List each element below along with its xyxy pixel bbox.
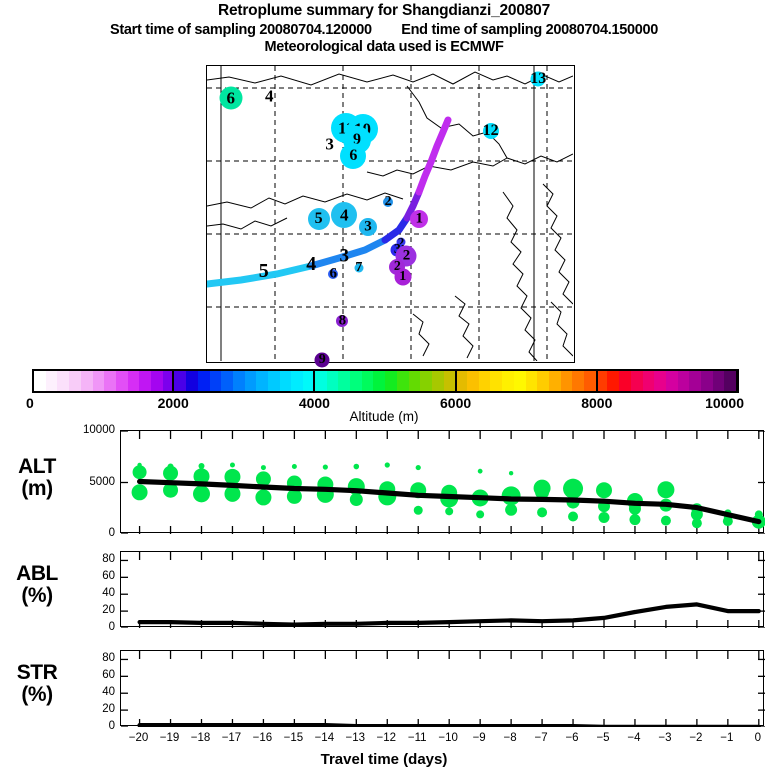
alt-panel-label: ALT (m) <box>6 456 68 500</box>
x-tick-label: −19 <box>160 732 180 744</box>
colorbar-swatch <box>81 371 93 391</box>
map-marker-label: 3 <box>325 136 334 153</box>
colorbar-tick <box>313 369 315 393</box>
colorbar-swatch <box>362 371 374 391</box>
colorbar-swatch <box>268 371 280 391</box>
x-tick-label: 0 <box>755 732 761 744</box>
alt-y-tick-label: 0 <box>60 527 115 539</box>
abl-timeseries-panel[interactable] <box>120 551 764 627</box>
colorbar-swatch <box>280 371 292 391</box>
x-tick-label: −13 <box>346 732 366 744</box>
colorbar-swatch <box>373 371 385 391</box>
map-graticule-and-coastlines <box>207 66 573 361</box>
colorbar-swatch <box>455 371 467 391</box>
start-time-label: Start time of sampling 20080704.120000 <box>110 22 372 38</box>
map-marker-label: 3 <box>364 219 372 234</box>
x-tick-label: −9 <box>473 732 486 744</box>
map-marker-label: 3 <box>340 247 350 266</box>
abl-panel-label: ABL (%) <box>6 563 68 607</box>
colorbar-swatch <box>69 371 81 391</box>
colorbar-swatch <box>432 371 444 391</box>
colorbar-swatch <box>631 371 643 391</box>
map-marker-label: 4 <box>265 87 274 104</box>
colorbar-swatch <box>245 371 257 391</box>
colorbar-swatch <box>549 371 561 391</box>
map-marker-label: 4 <box>340 206 349 223</box>
colorbar-swatch <box>713 371 725 391</box>
colorbar-swatch <box>420 371 432 391</box>
colorbar-swatch <box>561 371 573 391</box>
abl-y-tick-label: 0 <box>60 621 115 633</box>
alt-y-tick-label: 10000 <box>60 424 115 436</box>
colorbar-swatch <box>619 371 631 391</box>
str-timeseries-panel[interactable] <box>120 650 764 726</box>
map-marker-label: 6 <box>349 148 357 164</box>
colorbar-swatch <box>572 371 584 391</box>
str-plot-area <box>121 651 765 727</box>
colorbar-swatch <box>537 371 549 391</box>
colorbar-swatch <box>724 371 736 391</box>
map-marker-label: 6 <box>227 90 236 107</box>
colorbar-swatch <box>385 371 397 391</box>
x-tick-label: −16 <box>253 732 273 744</box>
abl-y-tick-label: 20 <box>60 604 115 616</box>
x-tick-label: −20 <box>129 732 149 744</box>
colorbar-swatch <box>490 371 502 391</box>
colorbar-swatch <box>315 371 327 391</box>
page-title: Retroplume summary for Shangdianzi_20080… <box>0 2 768 20</box>
x-tick-label: −18 <box>191 732 211 744</box>
colorbar-swatch <box>502 371 514 391</box>
colorbar-swatch <box>128 371 140 391</box>
colorbar-swatch <box>174 371 186 391</box>
x-tick-label: −5 <box>596 732 609 744</box>
map-marker-label: 6 <box>330 266 338 281</box>
alt-plot-area <box>121 431 765 534</box>
colorbar-swatch <box>701 371 713 391</box>
map-marker-label: 2 <box>385 195 392 209</box>
colorbar-swatch <box>46 371 58 391</box>
sampling-time-line: Start time of sampling 20080704.120000 E… <box>0 22 768 38</box>
map-marker-label: 4 <box>306 254 316 274</box>
colorbar-swatch <box>678 371 690 391</box>
colorbar-tick <box>596 369 598 393</box>
x-tick-label: −10 <box>438 732 458 744</box>
map-marker-label: 7 <box>355 261 362 275</box>
colorbar-swatch <box>643 371 655 391</box>
x-tick-label: −7 <box>535 732 548 744</box>
str-y-tick-label: 20 <box>60 703 115 715</box>
colorbar-swatch <box>514 371 526 391</box>
colorbar-swatch <box>654 371 666 391</box>
str-y-tick-label: 0 <box>60 720 115 732</box>
colorbar-swatch <box>689 371 701 391</box>
map-marker-label: 8 <box>339 314 347 329</box>
colorbar-swatch <box>139 371 151 391</box>
str-y-tick-label: 60 <box>60 669 115 681</box>
x-axis-title: Travel time (days) <box>0 751 768 768</box>
colorbar-swatch <box>198 371 210 391</box>
header-block: Retroplume summary for Shangdianzi_20080… <box>0 2 768 55</box>
x-tick-label: −17 <box>222 732 242 744</box>
alt-y-tick-label: 5000 <box>60 476 115 488</box>
colorbar-swatch <box>221 371 233 391</box>
colorbar-swatch <box>151 371 163 391</box>
x-tick-label: −6 <box>565 732 578 744</box>
colorbar-swatch <box>526 371 538 391</box>
alt-timeseries-panel[interactable] <box>120 430 764 533</box>
colorbar-swatch <box>291 371 303 391</box>
map-marker-label: 12 <box>483 123 499 139</box>
colorbar-swatch <box>104 371 116 391</box>
abl-y-tick-label: 80 <box>60 553 115 565</box>
met-data-label: Meteorological data used is ECMWF <box>0 39 768 55</box>
abl-plot-area <box>121 552 765 628</box>
str-panel-label: STR (%) <box>6 662 68 706</box>
x-tick-label: −14 <box>315 732 335 744</box>
map-marker-label: 1 <box>416 212 424 227</box>
map-marker-label: 5 <box>259 261 269 281</box>
colorbar-swatch <box>444 371 456 391</box>
colorbar-swatch <box>666 371 678 391</box>
colorbar-swatch <box>397 371 409 391</box>
map-marker-label: 13 <box>530 71 546 87</box>
colorbar-swatch <box>93 371 105 391</box>
colorbar-swatch <box>34 371 46 391</box>
colorbar-tick <box>172 369 174 393</box>
colorbar-swatch <box>256 371 268 391</box>
x-tick-label: −11 <box>408 732 427 744</box>
colorbar-swatch <box>467 371 479 391</box>
map-marker-label: 9 <box>319 353 326 367</box>
end-time-label: End time of sampling 20080704.150000 <box>401 22 658 38</box>
colorbar-swatch <box>584 371 596 391</box>
x-tick-label: −15 <box>284 732 304 744</box>
str-y-tick-label: 80 <box>60 652 115 664</box>
colorbar-swatch <box>607 371 619 391</box>
colorbar-swatch <box>409 371 421 391</box>
colorbar-swatch <box>350 371 362 391</box>
colorbar-swatch <box>186 371 198 391</box>
x-tick-label: −2 <box>689 732 702 744</box>
map-marker-label: 5 <box>315 211 323 227</box>
colorbar-swatch <box>327 371 339 391</box>
colorbar-swatch <box>338 371 350 391</box>
map-panel[interactable]: 641311101239625431232215436789 <box>206 65 575 363</box>
colorbar-swatch <box>233 371 245 391</box>
abl-y-tick-label: 60 <box>60 570 115 582</box>
colorbar-title: Altitude (m) <box>0 409 768 424</box>
colorbar-swatch <box>116 371 128 391</box>
colorbar-swatch <box>479 371 491 391</box>
x-tick-label: −8 <box>504 732 517 744</box>
x-tick-label: −4 <box>627 732 640 744</box>
map-marker-label: 1 <box>399 270 406 284</box>
abl-y-tick-label: 40 <box>60 587 115 599</box>
colorbar-tick <box>737 369 739 393</box>
colorbar-swatch <box>57 371 69 391</box>
colorbar-tick <box>455 369 457 393</box>
x-tick-label: −1 <box>720 732 733 744</box>
x-tick-label: −3 <box>658 732 671 744</box>
altitude-colorbar[interactable] <box>32 369 738 393</box>
str-y-tick-label: 40 <box>60 686 115 698</box>
colorbar-swatch <box>210 371 222 391</box>
x-tick-label: −12 <box>377 732 397 744</box>
